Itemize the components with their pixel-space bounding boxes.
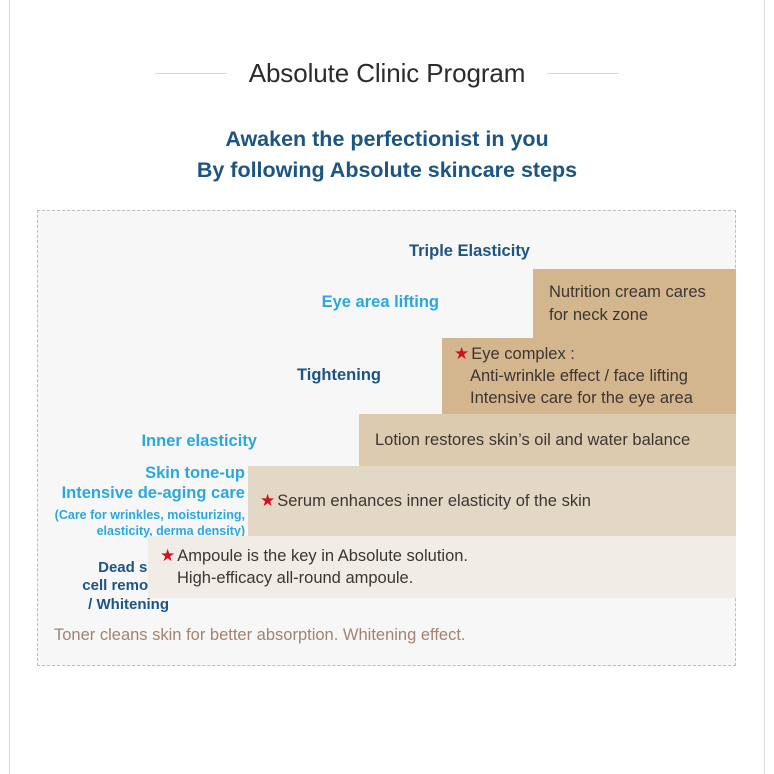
category-label-inner-elasticity: Inner elasticity xyxy=(141,432,257,452)
category-label-eye-area-lifting: Eye area lifting xyxy=(322,293,439,313)
ampoule-line-1: ★Ampoule is the key in Absolute solution… xyxy=(160,545,468,567)
eye-complex-title: Eye complex : xyxy=(471,345,575,363)
category-label-triple-elasticity: Triple Elasticity xyxy=(409,242,530,262)
step-block-nutrition-cream: Nutrition cream cares for neck zone xyxy=(533,269,736,338)
serum-line-1: ★Serum enhances inner elasticity of the … xyxy=(260,490,591,512)
step-block-lotion: Lotion restores skin’s oil and water bal… xyxy=(359,414,736,466)
ampoule-text-1: Ampoule is the key in Absolute solution. xyxy=(177,547,468,565)
step-block-serum: ★Serum enhances inner elasticity of the … xyxy=(248,466,736,536)
title-rule-left xyxy=(155,73,227,74)
dead-skin-line-3: / Whitening xyxy=(82,596,169,614)
star-icon-eye-complex: ★ xyxy=(454,344,469,363)
category-label-tightening: Tightening xyxy=(297,366,381,386)
step-text-nutrition-cream: Nutrition cream cares for neck zone xyxy=(533,281,714,325)
step-text-eye-complex: ★Eye complex : Anti-wrinkle effect / fac… xyxy=(442,343,701,409)
toner-caption: Toner cleans skin for better absorption.… xyxy=(54,626,466,645)
page-title: Absolute Clinic Program xyxy=(227,58,548,89)
eye-complex-line-3: Intensive care for the eye area xyxy=(454,387,693,409)
eye-complex-line-1: ★Eye complex : xyxy=(454,343,693,365)
title-rule-right xyxy=(547,73,619,74)
subtitle: Awaken the perfectionist in you By follo… xyxy=(9,124,765,185)
ampoule-line-2: High-efficacy all-round ampoule. xyxy=(160,567,468,589)
subtitle-line-1: Awaken the perfectionist in you xyxy=(9,124,765,155)
nutrition-line-1: Nutrition cream cares xyxy=(549,281,706,303)
skincare-step-diagram: Triple Elasticity Nutrition cream cares … xyxy=(37,210,736,666)
skin-tone-up-note-1: (Care for wrinkles, moisturizing, xyxy=(55,507,245,524)
serum-text: Serum enhances inner elasticity of the s… xyxy=(277,492,591,510)
step-text-lotion: Lotion restores skin’s oil and water bal… xyxy=(359,429,698,451)
lotion-line-1: Lotion restores skin’s oil and water bal… xyxy=(375,429,690,451)
subtitle-line-2: By following Absolute skincare steps xyxy=(9,155,765,186)
step-text-ampoule: ★Ampoule is the key in Absolute solution… xyxy=(148,545,476,589)
step-text-serum: ★Serum enhances inner elasticity of the … xyxy=(248,490,599,512)
step-block-ampoule: ★Ampoule is the key in Absolute solution… xyxy=(148,536,736,598)
step-block-eye-complex: ★Eye complex : Anti-wrinkle effect / fac… xyxy=(442,338,736,414)
star-icon-serum: ★ xyxy=(260,491,275,510)
star-icon-ampoule: ★ xyxy=(160,546,175,565)
nutrition-line-2: for neck zone xyxy=(549,304,706,326)
title-row: Absolute Clinic Program xyxy=(9,58,765,89)
skin-tone-up-line-2: Intensive de-aging care xyxy=(55,484,245,504)
category-label-skin-tone-up: Skin tone-up Intensive de-aging care (Ca… xyxy=(55,464,245,540)
skin-tone-up-line-1: Skin tone-up xyxy=(55,464,245,484)
eye-complex-line-2: Anti-wrinkle effect / face lifting xyxy=(454,365,693,387)
